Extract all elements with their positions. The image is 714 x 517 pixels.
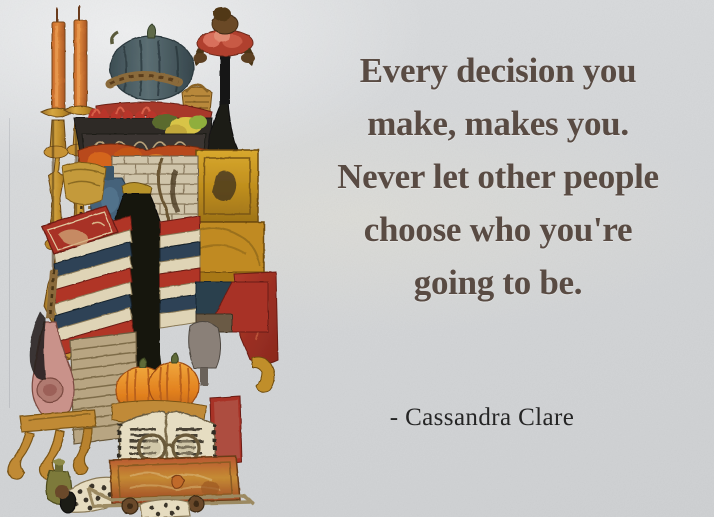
cart-base-scroll <box>140 499 190 517</box>
quote-attribution: - Cassandra Clare <box>292 404 672 432</box>
gold-panel-cabinet <box>192 150 268 282</box>
quote-line-2: make, makes you. <box>292 97 704 150</box>
quote-text: Every decision you make, makes you. Neve… <box>292 44 704 309</box>
quote-line-3: Never let other people <box>292 150 704 203</box>
cart-wheel-left <box>122 498 138 514</box>
striped-gourd <box>110 24 194 100</box>
quote-line-1: Every decision you <box>292 44 704 97</box>
quote-card: Every decision you make, makes you. Neve… <box>0 0 714 517</box>
cart-wheel-right <box>188 496 204 512</box>
still-life-illustration <box>0 0 300 517</box>
quote-line-5: going to be. <box>292 256 704 309</box>
candle-right <box>74 5 87 110</box>
quote-line-4: choose who you're <box>292 203 704 256</box>
gold-bowl <box>62 162 106 204</box>
curved-leg-table <box>8 410 96 479</box>
candle-left <box>52 7 65 110</box>
